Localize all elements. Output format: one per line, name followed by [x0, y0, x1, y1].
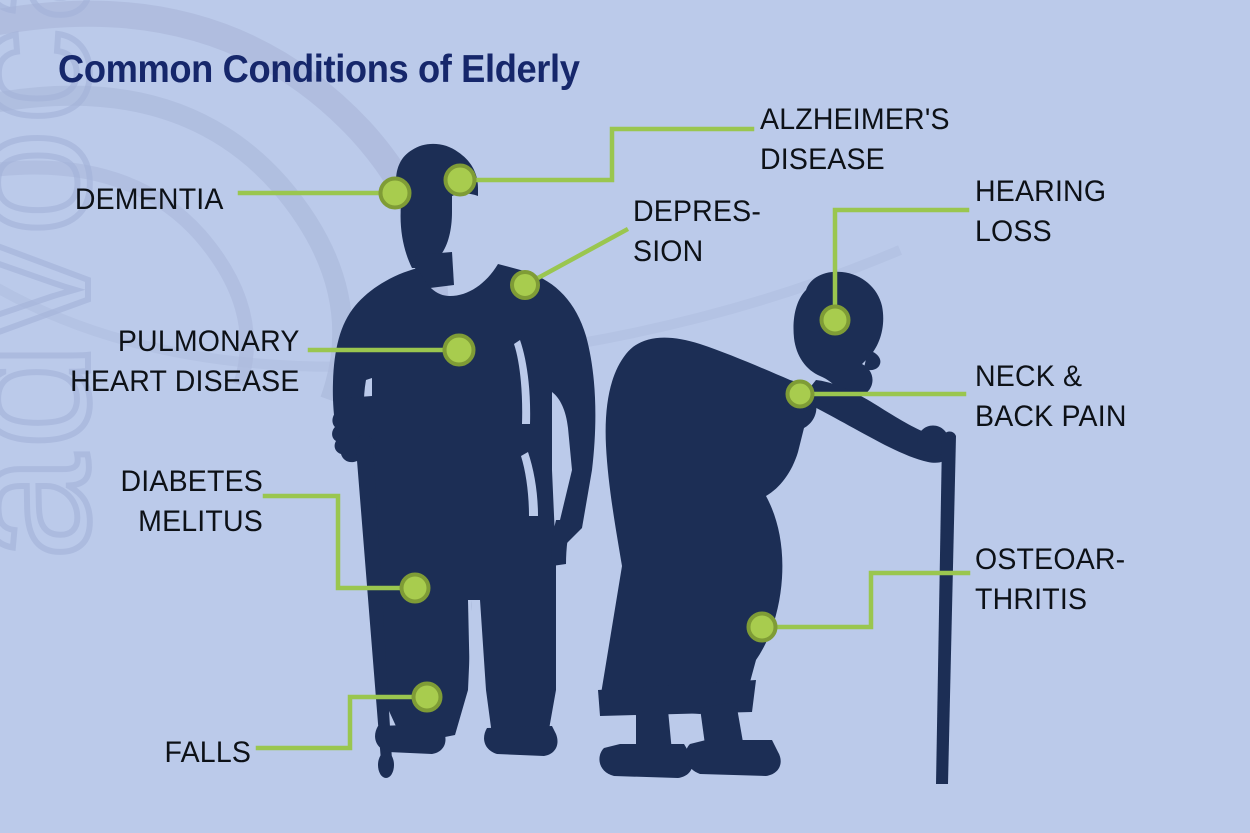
- dot-falls[interactable]: [414, 684, 441, 711]
- label-falls: FALLS: [164, 733, 251, 773]
- label-neck-and-back-pain: NECK & BACK PAIN: [975, 357, 1127, 437]
- dot-osteoarthritis[interactable]: [749, 614, 776, 641]
- label-pulmonary-heart-disease: PULMONARY HEART DISEASE: [71, 322, 300, 402]
- connector-osteoarthritis: [762, 573, 968, 627]
- label-hearing-loss: HEARING LOSS: [975, 172, 1106, 252]
- dot-alzheimers-disease[interactable]: [446, 166, 475, 195]
- label-alzheimers-disease: ALZHEIMER'S DISEASE: [760, 100, 950, 180]
- label-osteoarthritis: OSTEOAR- THRITIS: [975, 540, 1125, 620]
- label-diabetes-melitus: DIABETES MELITUS: [121, 462, 263, 542]
- label-depression: DEPRES- SION: [633, 192, 761, 272]
- label-dementia: DEMENTIA: [75, 180, 224, 220]
- dot-hearing-loss[interactable]: [822, 307, 849, 334]
- dot-pulmonary-heart-disease[interactable]: [445, 336, 474, 365]
- connector-depression: [527, 230, 626, 284]
- page-title: Common Conditions of Elderly: [58, 50, 580, 91]
- connector-alzheimers-disease: [460, 129, 752, 180]
- standing-elderly-man-with-cane: [332, 144, 595, 778]
- dot-neck-and-back-pain[interactable]: [788, 382, 813, 407]
- dot-dementia[interactable]: [381, 179, 410, 208]
- dot-diabetes-melitus[interactable]: [402, 575, 429, 602]
- hunched-elderly-woman-with-cane: [598, 272, 956, 784]
- dot-depression[interactable]: [512, 272, 538, 298]
- infographic-canvas: advocare: [0, 0, 1250, 833]
